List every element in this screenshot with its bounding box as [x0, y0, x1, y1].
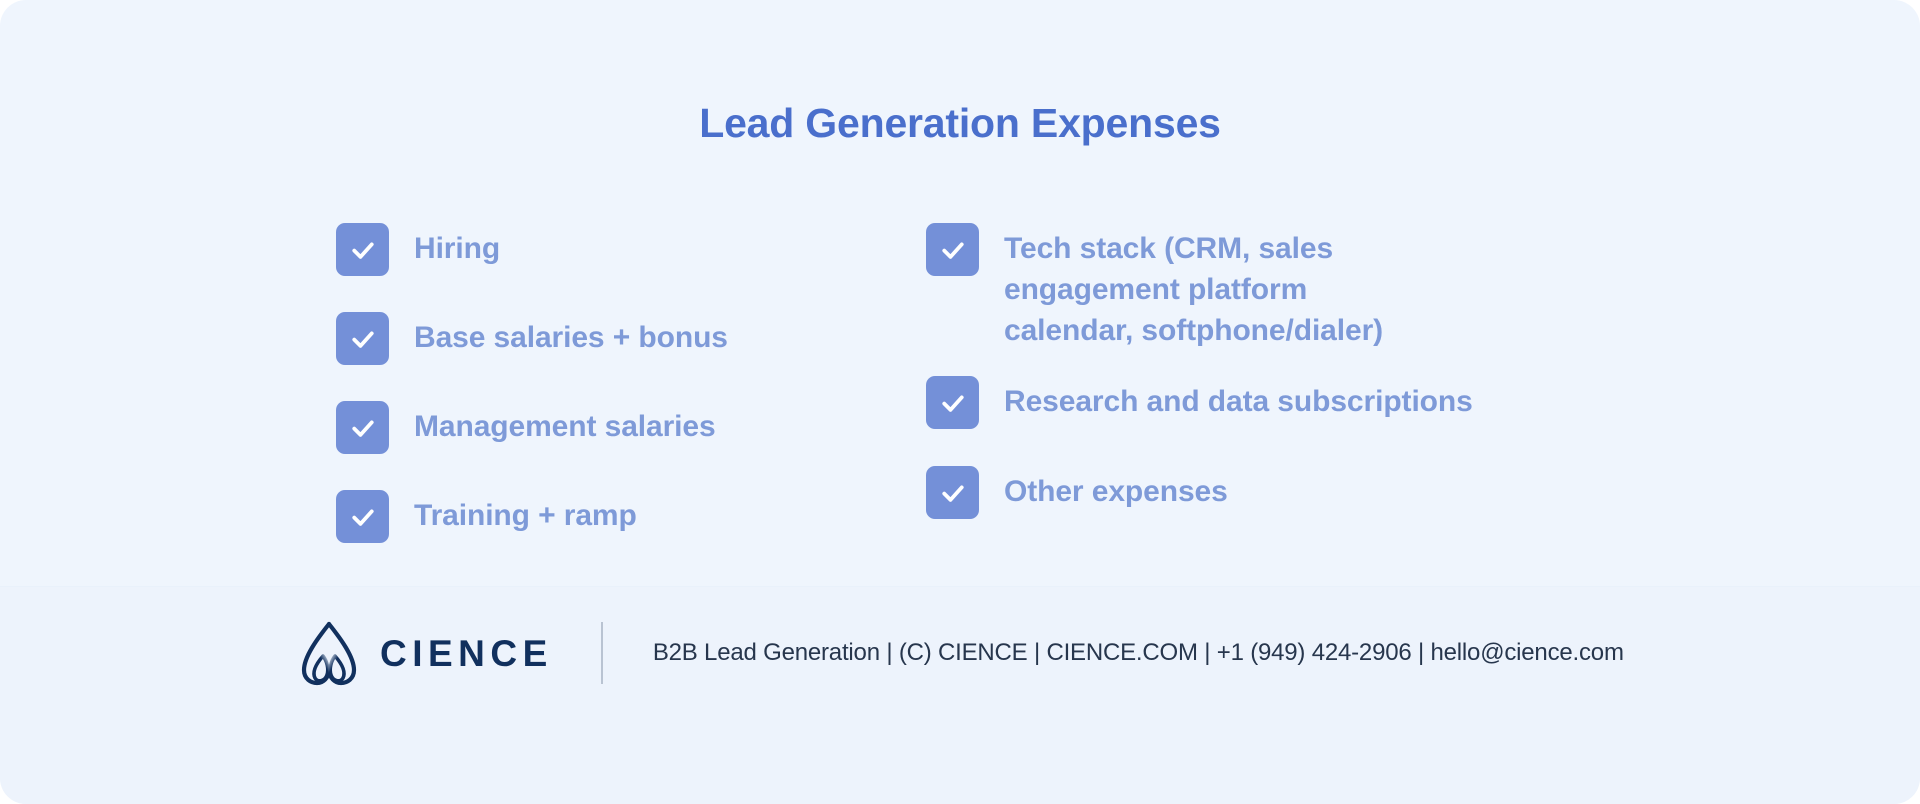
- list-item[interactable]: Management salaries: [336, 400, 896, 454]
- checklist-column-right: Tech stack (CRM, sales engagement platfo…: [926, 222, 1626, 555]
- footer-divider: [601, 622, 603, 684]
- checkbox-checked[interactable]: [336, 490, 389, 543]
- footer: CIENCE B2B Lead Generation | (C) CIENCE …: [298, 620, 1624, 686]
- list-item-label: Research and data subscriptions: [1004, 375, 1473, 422]
- checklist-column-left: Hiring Base salaries + bonus Management …: [336, 222, 896, 578]
- list-item-label: Training + ramp: [414, 489, 637, 536]
- cience-wordmark: CIENCE: [380, 635, 553, 672]
- list-item[interactable]: Hiring: [336, 222, 896, 276]
- list-item[interactable]: Training + ramp: [336, 489, 896, 543]
- cience-logo[interactable]: CIENCE: [298, 620, 553, 686]
- footer-contact-line: B2B Lead Generation | (C) CIENCE | CIENC…: [653, 639, 1624, 667]
- checkbox-checked[interactable]: [336, 223, 389, 276]
- page-title: Lead Generation Expenses: [0, 101, 1920, 146]
- list-item-label: Hiring: [414, 222, 500, 269]
- cience-arch-logo-icon: [298, 620, 360, 686]
- footer-band: [0, 586, 1920, 804]
- checkbox-checked[interactable]: [926, 466, 979, 519]
- list-item-label: Management salaries: [414, 400, 716, 447]
- checkbox-checked[interactable]: [926, 376, 979, 429]
- checkbox-checked[interactable]: [926, 223, 979, 276]
- checkbox-checked[interactable]: [336, 312, 389, 365]
- list-item[interactable]: Other expenses: [926, 465, 1626, 519]
- footer-band-edge: [0, 586, 1920, 587]
- list-item[interactable]: Tech stack (CRM, sales engagement platfo…: [926, 222, 1626, 351]
- list-item-label: Other expenses: [1004, 465, 1228, 512]
- checkbox-checked[interactable]: [336, 401, 389, 454]
- slide-canvas: Lead Generation Expenses Hiring Base sal: [0, 0, 1920, 804]
- list-item-label: Base salaries + bonus: [414, 311, 728, 358]
- list-item[interactable]: Research and data subscriptions: [926, 375, 1626, 429]
- list-item[interactable]: Base salaries + bonus: [336, 311, 896, 365]
- list-item-label: Tech stack (CRM, sales engagement platfo…: [1004, 222, 1383, 351]
